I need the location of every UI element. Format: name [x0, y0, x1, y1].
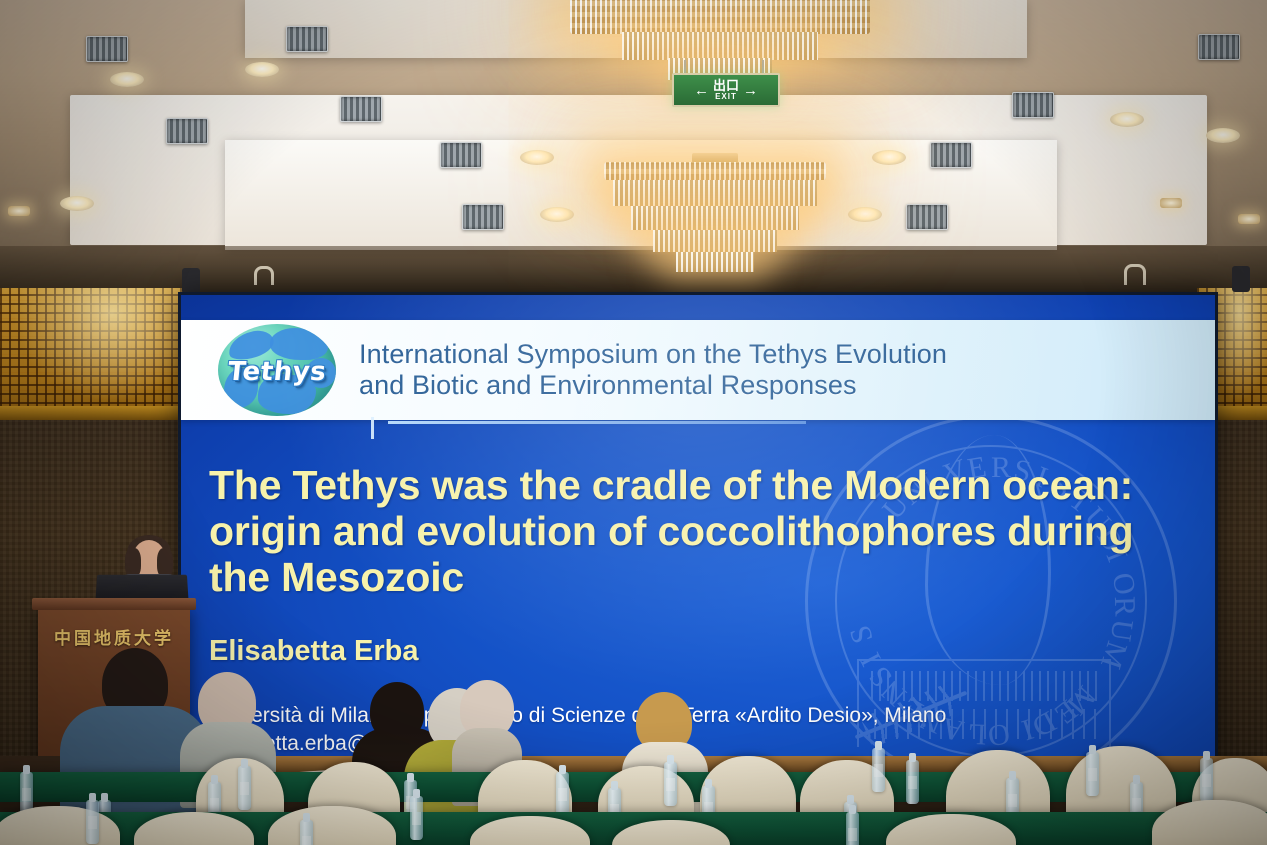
exit-sign-english: EXIT: [715, 93, 737, 101]
water-bottle: [846, 812, 859, 845]
symposium-title-line1: International Symposium on the Tethys Ev…: [359, 339, 947, 370]
wall-wash-light: [1238, 214, 1260, 224]
exit-sign: ← 出口 EXIT →: [672, 73, 780, 107]
water-bottle: [1200, 758, 1213, 802]
ceiling-downlight: [1110, 112, 1144, 127]
ceiling-vent: [166, 118, 208, 144]
chandelier-upper: [560, 0, 880, 34]
wall-wash-light: [1160, 198, 1182, 208]
ceiling-downlight: [245, 62, 279, 77]
water-bottle: [872, 748, 885, 792]
exit-sign-hanger: [762, 60, 764, 74]
water-bottle: [664, 762, 677, 806]
chandelier-main: [600, 162, 830, 180]
exit-arrow-right-icon: →: [743, 83, 758, 98]
header-accent-rule: [388, 421, 806, 424]
hanger-hook-right: [1124, 264, 1146, 285]
speaker-mount-left: [182, 268, 200, 294]
ceiling-downlight: [848, 207, 882, 222]
lectern-top-edge: [32, 598, 196, 610]
ceiling-downlight: [872, 150, 906, 165]
ceiling-downlight: [110, 72, 144, 87]
ceiling-vent: [906, 204, 948, 230]
ceiling-downlight: [540, 207, 574, 222]
ceiling-vent: [440, 142, 482, 168]
slide-email: elisabetta.erba@unimi.it: [209, 730, 946, 758]
tethys-globe-logo: Tethys: [213, 322, 341, 418]
water-bottle: [906, 760, 919, 804]
ceiling-vent: [462, 204, 504, 230]
wall-wash-light: [8, 206, 30, 216]
water-bottle: [556, 772, 569, 816]
tethys-logo-wordmark: Tethys: [226, 357, 327, 387]
water-bottle: [300, 820, 313, 845]
slide-affiliation: Università di Milano, Dipartimento di Sc…: [209, 702, 946, 730]
water-bottle: [1086, 752, 1099, 796]
wall-fret-base-left: [0, 406, 186, 420]
ceiling-vent: [930, 142, 972, 168]
ceiling-vent: [1198, 34, 1240, 60]
ceiling-vent: [1012, 92, 1054, 118]
water-bottle: [238, 766, 251, 810]
slide-main-title: The Tethys was the cradle of the Modern …: [209, 463, 1139, 601]
header-accent-tick: [371, 417, 374, 439]
exit-sign-hanger: [684, 60, 686, 74]
slide-surface: S T U D I O R U M M E D I O L A N: [181, 295, 1215, 759]
ceiling-vent: [86, 36, 128, 62]
ceiling-downlight: [60, 196, 94, 211]
ceiling-downlight: [1206, 128, 1240, 143]
conference-photo-scene: ← 出口 EXIT → S T U: [0, 0, 1267, 845]
ceiling-vent: [340, 96, 382, 122]
slide-affiliation-block: Università di Milano, Dipartimento di Sc…: [209, 702, 946, 759]
slide-header-band: Tethys International Symposium on the Te…: [181, 320, 1215, 420]
water-bottle: [410, 796, 423, 840]
exit-arrow-left-icon: ←: [694, 83, 709, 98]
wall-fret-pattern-left: [0, 288, 186, 413]
symposium-title: International Symposium on the Tethys Ev…: [359, 339, 947, 402]
symposium-title-line2: and Biotic and Environmental Responses: [359, 370, 947, 401]
water-bottle: [86, 800, 99, 844]
exit-sign-chinese: 出口: [713, 80, 739, 93]
hanger-hook-left: [254, 266, 274, 285]
slide-author-name: Elisabetta Erba: [209, 635, 419, 668]
speaker-mount-right: [1232, 266, 1250, 292]
ceiling-vent: [286, 26, 328, 52]
lectern-university-label: 中国地质大学: [38, 624, 190, 649]
ceiling-downlight: [520, 150, 554, 165]
